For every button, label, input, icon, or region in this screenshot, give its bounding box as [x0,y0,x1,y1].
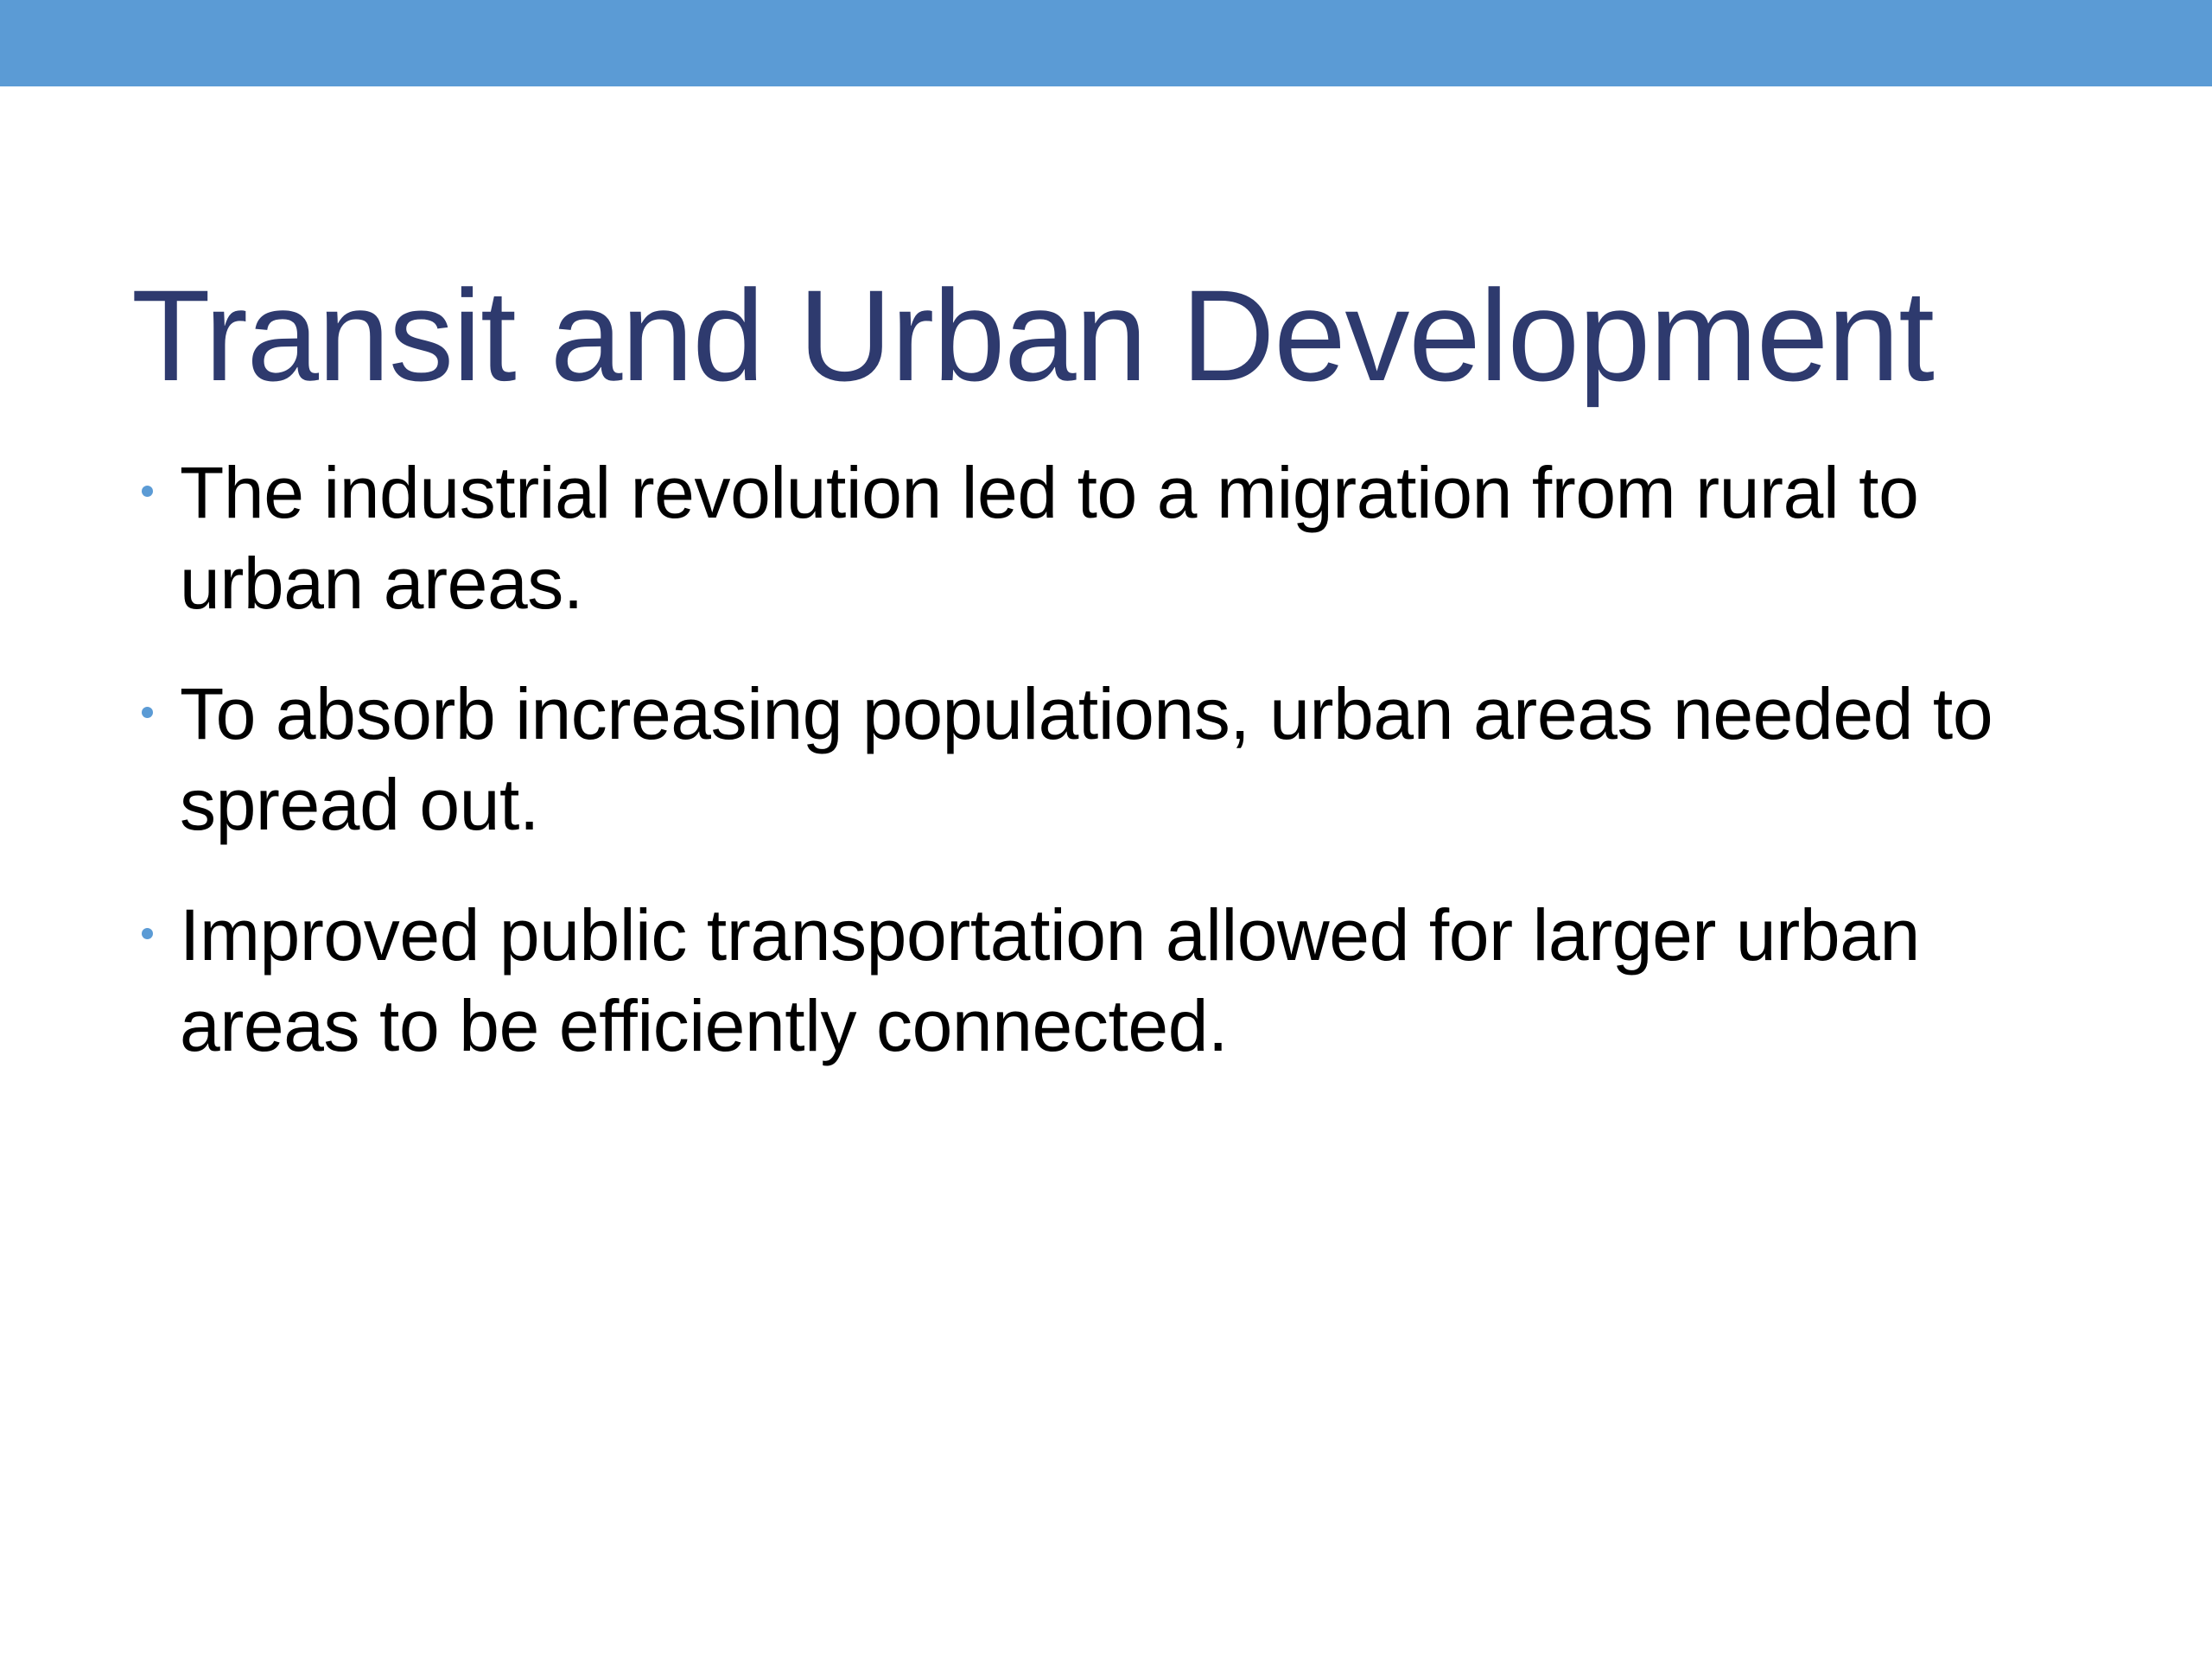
slide-accent-bar [0,0,2212,86]
list-item: To absorb increasing populations, urban … [130,669,2117,850]
bullet-text: Improved public transportation allowed f… [180,890,2117,1071]
bullet-dot-icon [142,486,153,497]
slide-title: Transit and Urban Development [131,270,2084,400]
presentation-slide: Transit and Urban Development The indust… [0,0,2212,1659]
bullet-dot-icon [142,928,153,939]
slide-bullet-list: The industrial revolution led to a migra… [130,448,2117,1071]
bullet-text: To absorb increasing populations, urban … [180,669,2117,850]
bullet-dot-icon [142,707,153,718]
list-item: Improved public transportation allowed f… [130,890,2117,1071]
list-item: The industrial revolution led to a migra… [130,448,2117,629]
bullet-text: The industrial revolution led to a migra… [180,448,2117,629]
